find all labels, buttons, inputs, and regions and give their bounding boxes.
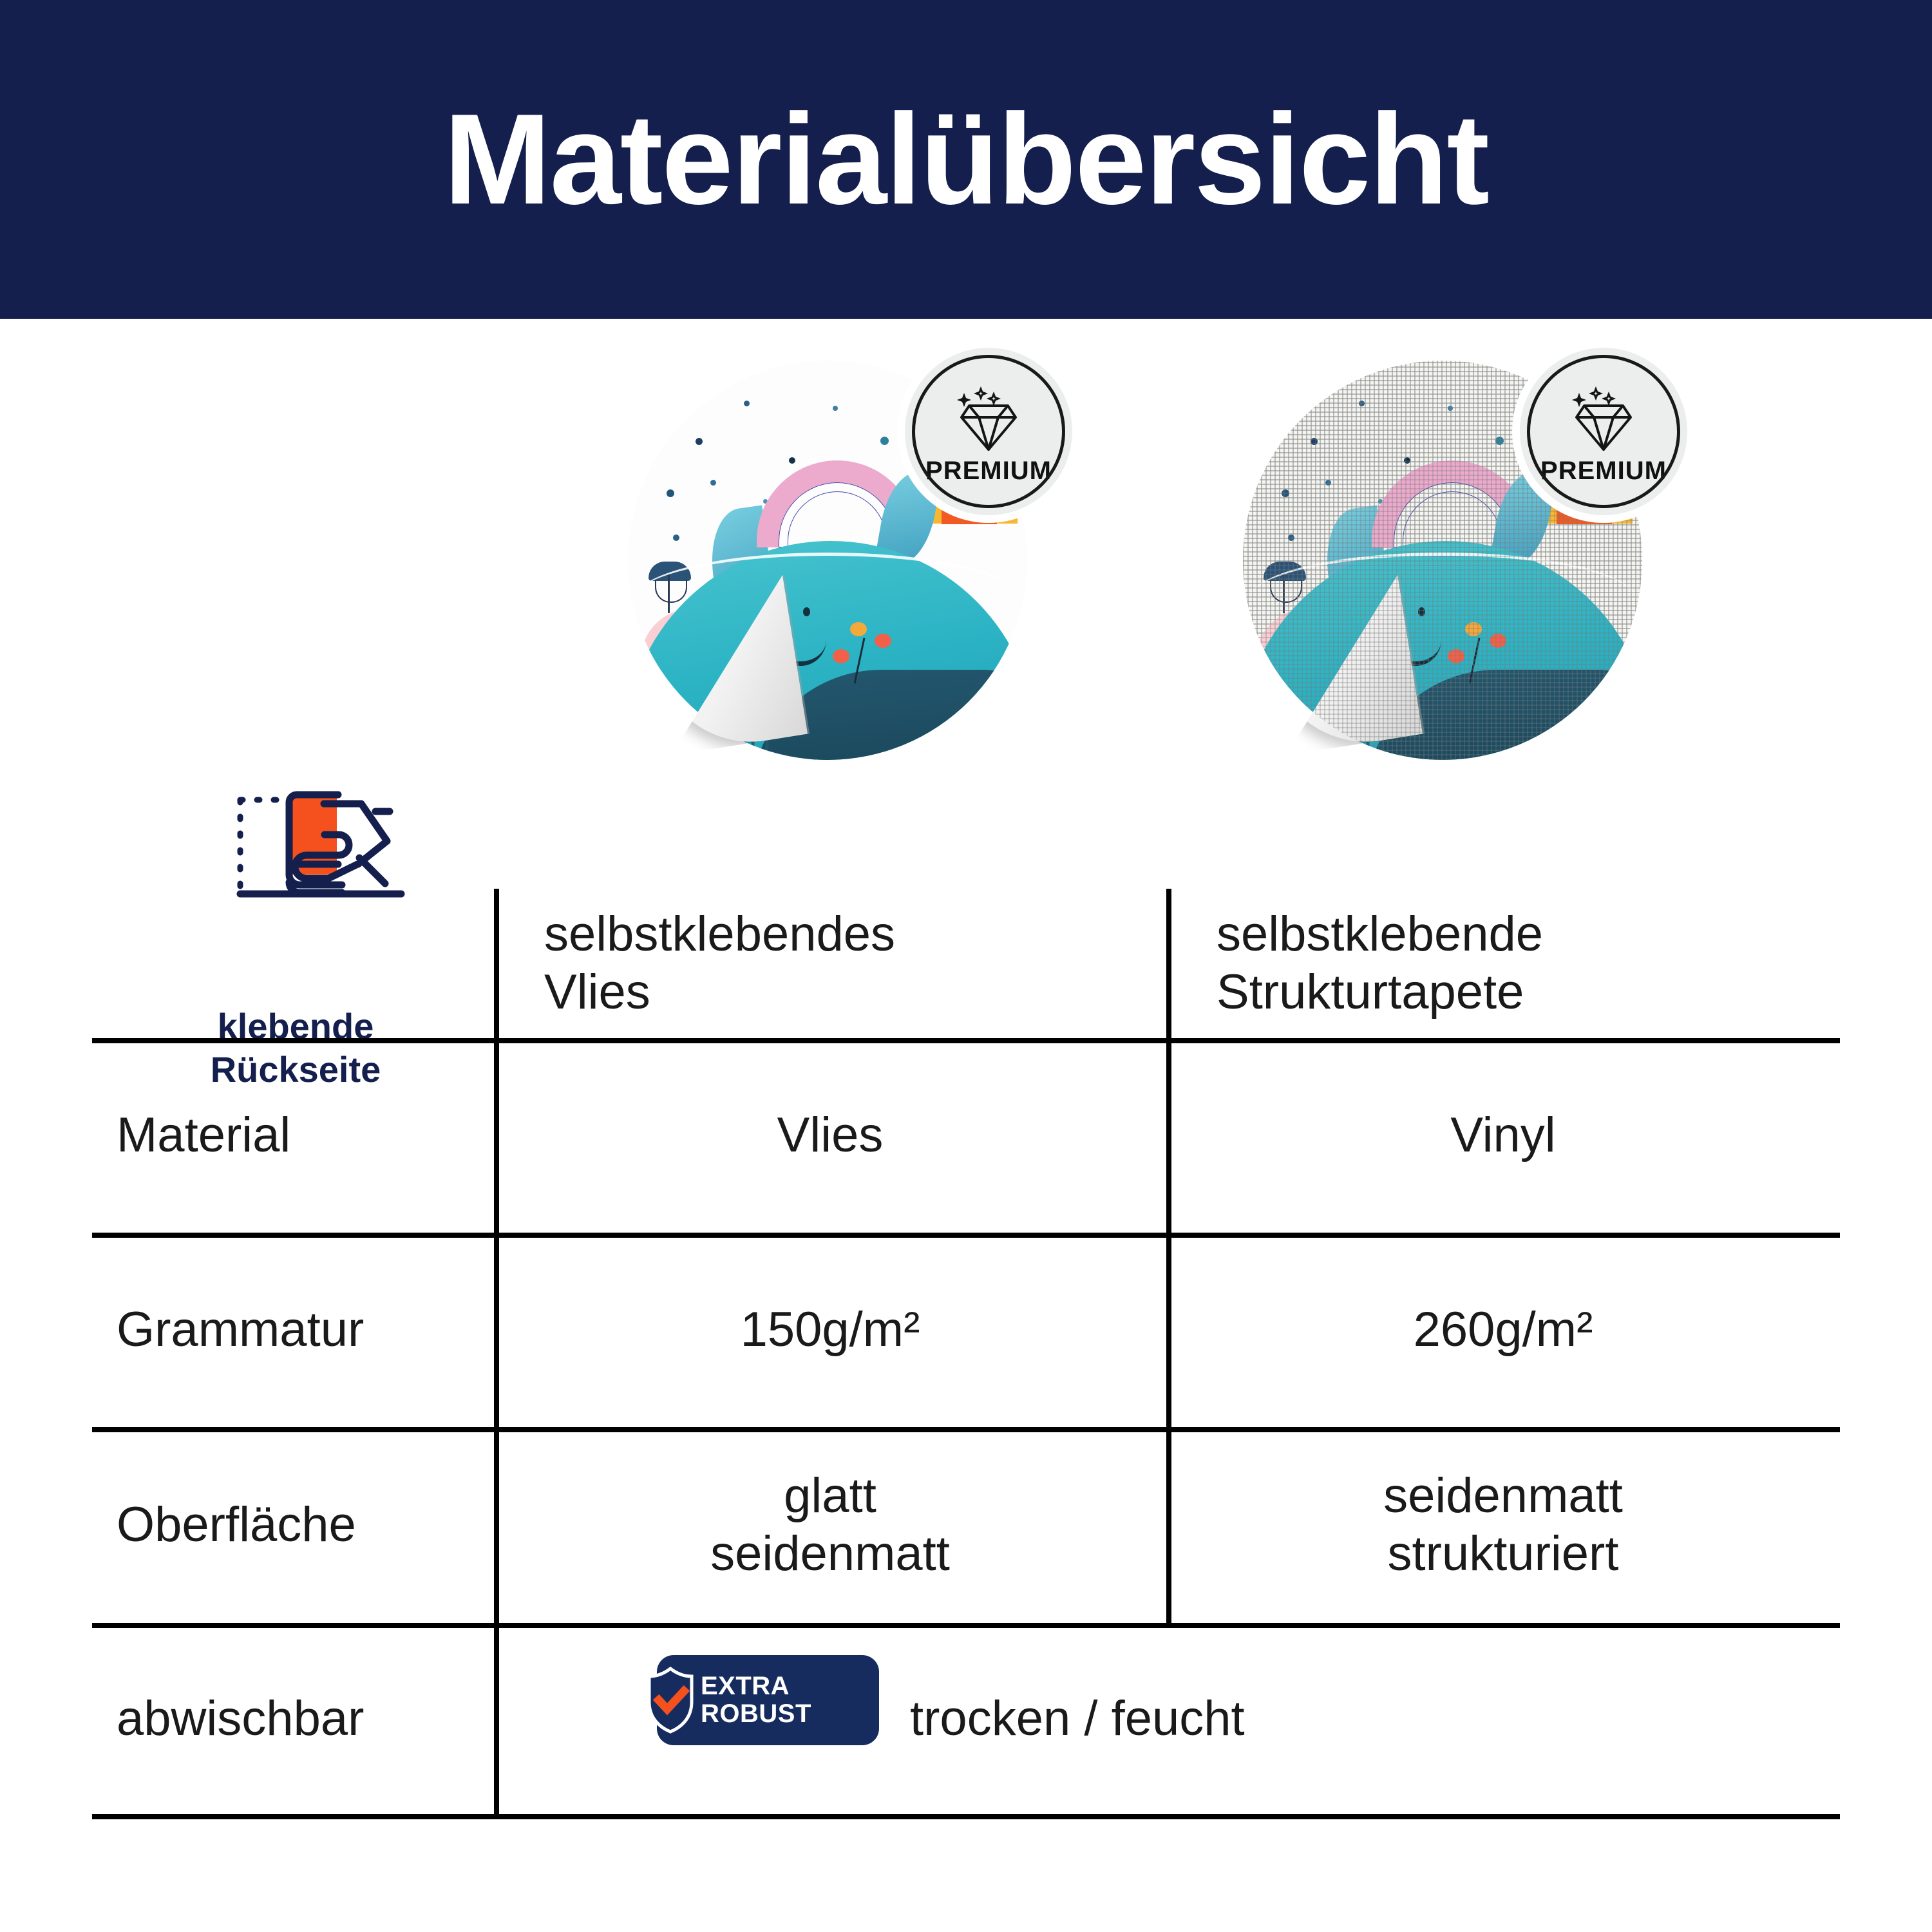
speck [1325,480,1331,486]
table-row-label-material: Material [92,1038,494,1233]
material-spec-table: klebende Rückseite selbstklebendes Vlies… [92,889,1840,1818]
table-cell-r0-c1: selbstklebendes Vlies [494,889,1166,1038]
extra-robust-badge: EXTRA ROBUST [657,1655,879,1745]
cell-text-line1: seidenmatt [1383,1467,1623,1525]
speck [1288,535,1294,541]
speck [1448,406,1453,411]
cell-text: Material [92,1106,290,1164]
preview-material-1[interactable]: PREMIUM [602,335,1066,760]
speck [1404,457,1410,464]
flower-petal-shape [1448,649,1464,663]
speck [744,401,750,406]
preview-material-2[interactable]: PREMIUM [1217,335,1681,760]
speck [1359,401,1365,406]
flower-petal-shape [833,649,849,663]
diamond-icon [1565,386,1642,454]
cell-text-line2: Vlies [494,963,895,1021]
cell-text: Vinyl [1450,1106,1555,1164]
extra-robust-line2: ROBUST [701,1700,811,1728]
table-bottom-rule [92,1814,1840,1819]
extra-robust-text: EXTRA ROBUST [701,1672,811,1728]
speck [789,457,795,464]
flower-petal-shape [875,634,891,648]
cell-text-line2: strukturiert [1383,1525,1623,1583]
premium-badge: PREMIUM [1520,348,1687,515]
peel-sticker-hand-icon [221,786,414,908]
table-cell-r2-c1: 150g/m² [494,1233,1166,1427]
speck [1495,437,1504,445]
cell-text: abwischbar [92,1690,364,1748]
cell-text-line1: selbstklebende [1166,905,1543,963]
cell-text-line2: seidenmatt [710,1525,950,1583]
diamond-icon [950,386,1027,454]
cell-text: 260g/m² [1414,1301,1593,1359]
speck [710,480,716,486]
speck [880,437,889,445]
flower-petal-shape [1490,634,1506,648]
cell-text: Grammatur [92,1301,364,1359]
table-cell-r1-c1: Vlies [494,1038,1166,1233]
flower-petal-shape [1465,622,1482,636]
speck [833,406,838,411]
table-cell-r0-c2: selbstklebende Strukturtapete [1166,889,1840,1038]
speck [1311,438,1318,445]
cell-text: Vlies [777,1106,884,1164]
preview-gallery: PREMIUM [0,335,1932,786]
cell-text: trocken / feucht [910,1690,1245,1748]
cell-text-line1: selbstklebendes [494,905,895,963]
eye-shape [803,607,810,616]
shield-check-icon [645,1667,696,1734]
extra-robust-line1: EXTRA [701,1672,811,1700]
speck [696,438,703,445]
table-cell-r3-c2: seidenmatt strukturiert [1166,1427,1840,1623]
table-row-label-oberflaeche: Oberfläche [92,1427,494,1623]
flower-petal-shape [850,622,867,636]
premium-badge: PREMIUM [905,348,1072,515]
table-row-label-grammatur: Grammatur [92,1233,494,1427]
table-cell-r2-c2: 260g/m² [1166,1233,1840,1427]
speck [673,535,679,541]
cell-text: Oberfläche [92,1496,356,1554]
page-header: Materialübersicht [0,0,1932,319]
cell-text-line2: Strukturtapete [1166,963,1543,1021]
page-title: Materialübersicht [444,95,1488,224]
table-cell-r4-c1: trocken / feucht [910,1623,1840,1814]
table-cell-r3-c1: glatt seidenmatt [494,1427,1166,1623]
table-row-label-abwischbar: abwischbar [92,1623,494,1814]
cell-text-line1: glatt [710,1467,950,1525]
eye-shape [1418,607,1425,616]
speck [667,489,674,497]
cell-text: 150g/m² [741,1301,920,1359]
speck [1282,489,1289,497]
table-cell-r1-c2: Vinyl [1166,1038,1840,1233]
